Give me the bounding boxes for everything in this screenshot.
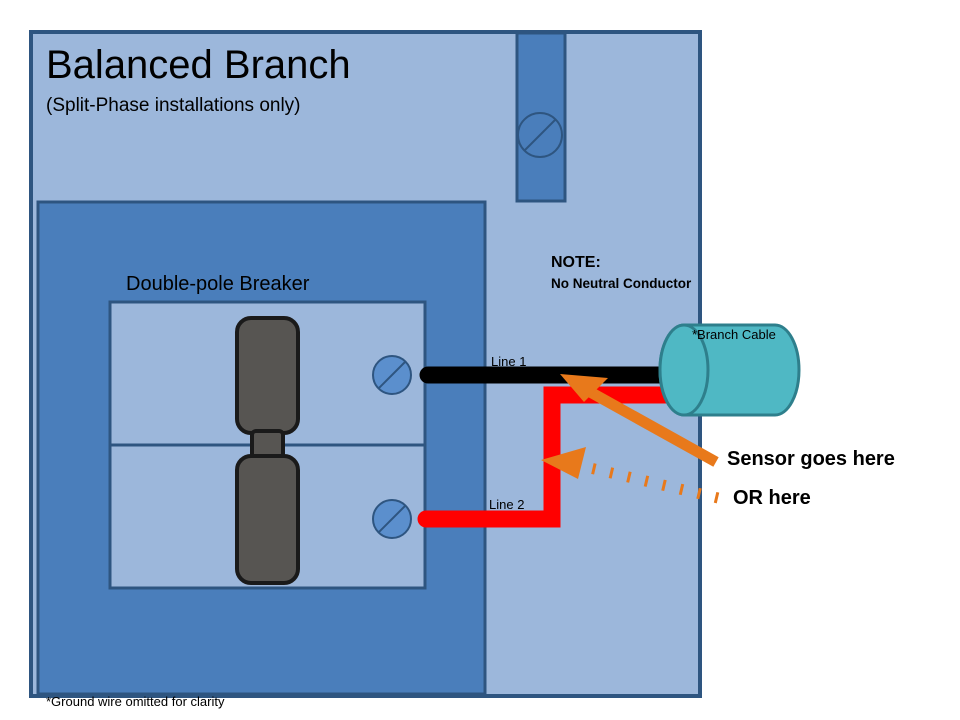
breaker-handle-upper[interactable] [237, 318, 298, 433]
page-title: Balanced Branch [46, 44, 351, 86]
footnote: *Ground wire omitted for clarity [46, 695, 224, 709]
branch-cable-label: *Branch Cable [692, 328, 776, 342]
breaker-handle-lower[interactable] [237, 456, 298, 583]
annotation-label-sensor-goes-here: Sensor goes here [727, 449, 895, 470]
wire-label-line1: Line 1 [491, 355, 526, 369]
breaker-label: Double-pole Breaker [126, 274, 309, 295]
wire-label-line2: Line 2 [489, 498, 524, 512]
page-subtitle: (Split-Phase installations only) [46, 96, 301, 116]
note-body: No Neutral Conductor [551, 277, 691, 291]
note-heading: NOTE: [551, 255, 601, 272]
diagram-canvas: Balanced Branch (Split-Phase installatio… [0, 0, 960, 720]
annotation-label-or-here: OR here [733, 488, 811, 509]
